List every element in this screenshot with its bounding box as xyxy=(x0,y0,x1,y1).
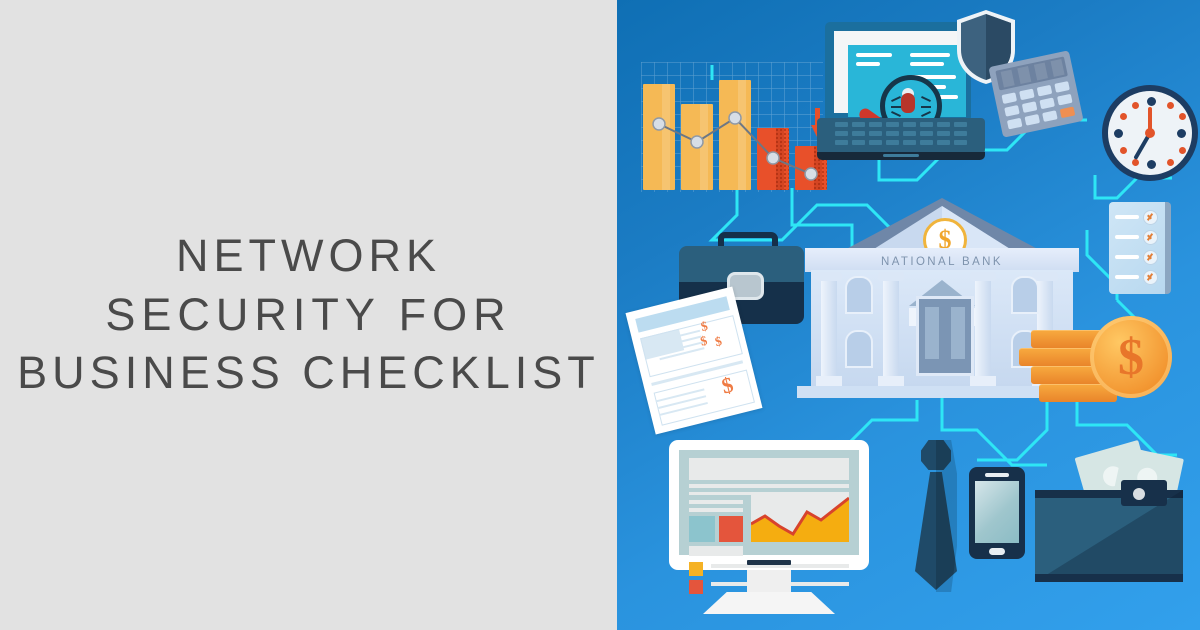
wallet-clasp xyxy=(1121,480,1167,506)
title-line-1: NETWORK xyxy=(17,227,600,286)
smartphone-icon xyxy=(969,467,1025,559)
title-panel: NETWORK SECURITY FOR BUSINESS CHECKLIST xyxy=(0,0,617,630)
title-line-2: SECURITY FOR xyxy=(17,286,600,345)
smartphone-home-button xyxy=(989,548,1005,555)
laptop-lid xyxy=(825,22,971,122)
monitor-screen xyxy=(679,450,859,555)
legend-swatch-yellow xyxy=(689,562,703,576)
coin-stack-icon: $ xyxy=(1017,310,1172,402)
bank-sign-text: NATIONAL BANK xyxy=(797,256,1087,268)
laptop-screen-content xyxy=(848,45,966,117)
bar-chart-with-trendline xyxy=(639,80,829,190)
title-line-3: BUSINESS CHECKLIST xyxy=(17,344,600,403)
trendline xyxy=(639,80,829,190)
bank-door xyxy=(916,296,974,376)
wall-clock-icon xyxy=(1102,85,1198,181)
checklist-tablet-icon xyxy=(1109,202,1171,294)
desktop-monitor-dashboard xyxy=(669,440,869,620)
monitor-area-chart xyxy=(751,494,849,542)
dollar-coin: $ xyxy=(1090,316,1172,398)
illustration-panel: $ $ $ $ $ NATIONAL BANK xyxy=(617,0,1200,630)
wallet-with-cash-icon xyxy=(1035,448,1193,584)
laptop-keyboard xyxy=(835,122,967,148)
poster-canvas: NETWORK SECURITY FOR BUSINESS CHECKLIST xyxy=(0,0,1200,630)
necktie-icon xyxy=(907,440,965,592)
page-title: NETWORK SECURITY FOR BUSINESS CHECKLIST xyxy=(17,227,600,403)
legend-swatch-red xyxy=(689,580,703,594)
laptop-base xyxy=(817,118,985,158)
smartphone-screen xyxy=(975,481,1019,543)
laptop-screen xyxy=(834,31,962,113)
calculator-equals-key xyxy=(1060,106,1076,118)
